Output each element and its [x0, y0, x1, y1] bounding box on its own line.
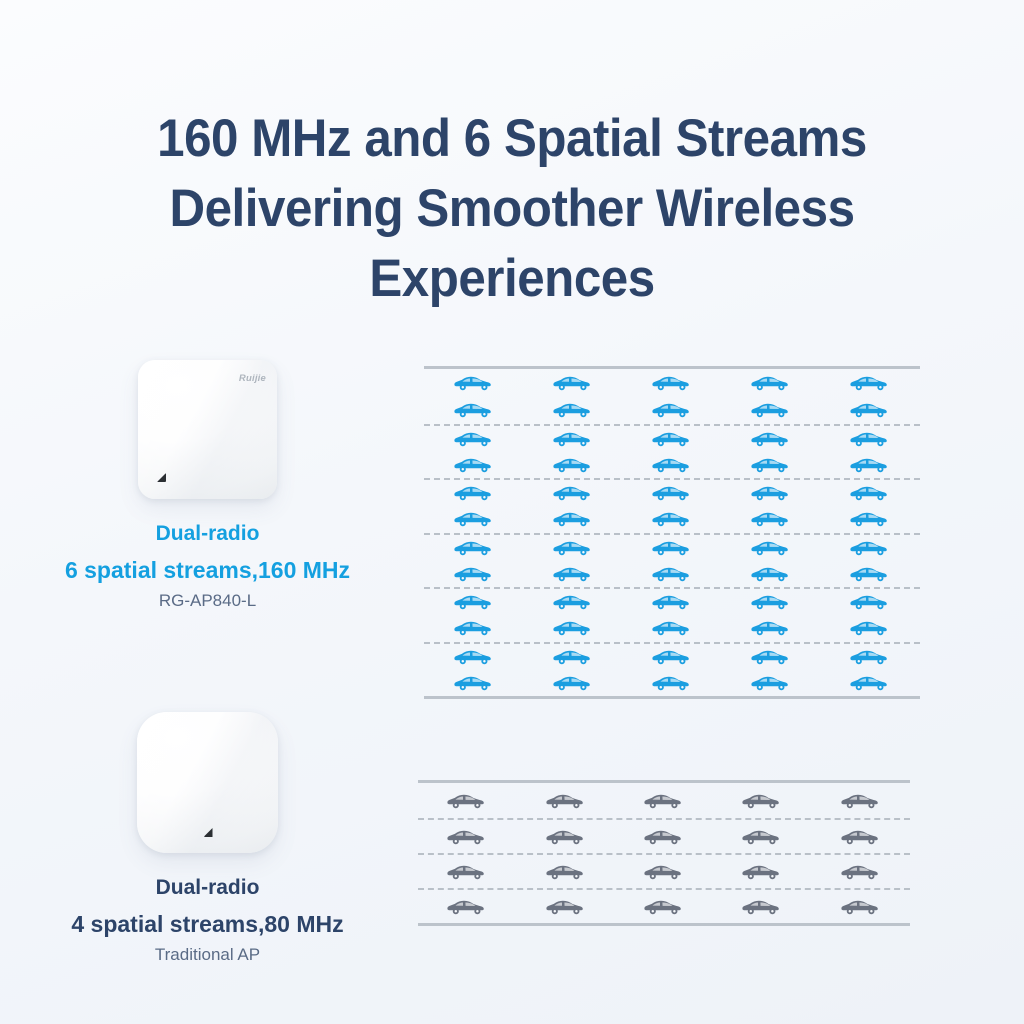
caption-model: Traditional AP	[0, 943, 415, 967]
car-slot	[523, 644, 622, 670]
car-slot	[722, 426, 821, 452]
car-icon	[546, 864, 586, 880]
car-icon	[546, 899, 586, 915]
car-icon	[454, 620, 494, 636]
lane-car-group	[418, 890, 910, 923]
car-icon	[454, 375, 494, 391]
car-icon	[553, 402, 593, 418]
car-icon	[553, 375, 593, 391]
car-icon	[553, 457, 593, 473]
car-rank	[424, 369, 920, 396]
car-slot	[424, 644, 523, 670]
car-slot	[424, 535, 523, 561]
car-icon	[652, 566, 692, 582]
car-slot	[812, 890, 910, 923]
car-slot	[424, 452, 523, 478]
car-rank	[424, 535, 920, 561]
car-slot	[615, 820, 713, 853]
car-icon	[454, 540, 494, 556]
car-icon	[850, 594, 890, 610]
car-icon	[553, 620, 593, 636]
car-slot	[821, 426, 920, 452]
car-slot	[821, 561, 920, 587]
caption-mode: Dual-radio	[0, 520, 415, 547]
car-slot	[821, 396, 920, 423]
car-icon	[553, 431, 593, 447]
road-lane	[418, 818, 910, 853]
car-slot	[523, 396, 622, 423]
lane-car-group	[418, 820, 910, 853]
caption-new-ap: Dual-radio 6 spatial streams,160 MHz RG-…	[0, 520, 415, 613]
car-icon	[644, 899, 684, 915]
car-icon	[553, 540, 593, 556]
car-rank	[424, 561, 920, 587]
car-slot	[516, 855, 614, 888]
lane-car-group	[424, 369, 920, 424]
car-slot	[523, 589, 622, 615]
car-icon	[553, 594, 593, 610]
car-slot	[418, 783, 516, 818]
car-slot	[812, 855, 910, 888]
car-slot	[821, 615, 920, 641]
car-icon	[751, 540, 791, 556]
car-rank	[418, 890, 910, 923]
device-gloss-overlay	[137, 712, 278, 853]
car-icon	[841, 864, 881, 880]
car-icon	[751, 594, 791, 610]
car-slot	[523, 535, 622, 561]
lane-car-group	[424, 589, 920, 642]
car-icon	[454, 675, 494, 691]
car-icon	[841, 829, 881, 845]
car-icon	[644, 829, 684, 845]
car-slot	[523, 561, 622, 587]
lane-car-group	[424, 535, 920, 588]
car-slot	[713, 855, 811, 888]
car-slot	[722, 480, 821, 506]
car-icon	[644, 864, 684, 880]
road-lane	[424, 478, 920, 533]
car-icon	[751, 375, 791, 391]
car-slot	[424, 615, 523, 641]
car-icon	[447, 864, 487, 880]
car-slot	[821, 369, 920, 396]
car-slot	[615, 783, 713, 818]
car-icon	[652, 540, 692, 556]
car-icon	[553, 485, 593, 501]
car-slot	[622, 670, 721, 696]
car-slot	[821, 480, 920, 506]
car-slot	[523, 615, 622, 641]
car-icon	[546, 793, 586, 809]
car-icon	[447, 899, 487, 915]
access-point-device-840: Ruijie	[138, 360, 277, 499]
lane-car-group	[418, 783, 910, 818]
car-icon	[553, 566, 593, 582]
car-icon	[751, 620, 791, 636]
caption-spec: 6 spatial streams,160 MHz	[0, 554, 415, 586]
car-slot	[615, 855, 713, 888]
car-icon	[454, 402, 494, 418]
car-icon	[751, 457, 791, 473]
car-slot	[622, 506, 721, 532]
car-slot	[722, 670, 821, 696]
car-icon	[454, 594, 494, 610]
car-icon	[751, 402, 791, 418]
car-icon	[742, 864, 782, 880]
title-line-2: Delivering Smoother Wireless	[36, 174, 988, 244]
car-slot	[523, 426, 622, 452]
car-slot	[424, 396, 523, 423]
car-icon	[742, 829, 782, 845]
car-icon	[447, 829, 487, 845]
car-slot	[622, 615, 721, 641]
road-diagram-traditional-ap	[418, 780, 910, 926]
car-slot	[418, 820, 516, 853]
car-icon	[850, 566, 890, 582]
title-line-3: Experiences	[36, 244, 988, 314]
car-slot	[821, 644, 920, 670]
car-slot	[821, 535, 920, 561]
car-icon	[652, 485, 692, 501]
car-slot	[418, 890, 516, 923]
car-slot	[722, 561, 821, 587]
car-slot	[812, 820, 910, 853]
car-slot	[424, 589, 523, 615]
car-slot	[622, 480, 721, 506]
status-led-icon	[157, 473, 166, 482]
car-icon	[751, 485, 791, 501]
car-slot	[418, 855, 516, 888]
car-icon	[652, 649, 692, 665]
car-icon	[850, 402, 890, 418]
car-slot	[622, 535, 721, 561]
car-rank	[424, 644, 920, 670]
car-slot	[722, 615, 821, 641]
car-slot	[424, 369, 523, 396]
lane-car-group	[424, 480, 920, 533]
lane-car-group	[418, 855, 910, 888]
road-lane	[424, 533, 920, 588]
caption-traditional-ap: Dual-radio 4 spatial streams,80 MHz Trad…	[0, 874, 415, 967]
car-slot	[622, 561, 721, 587]
car-icon	[751, 649, 791, 665]
car-slot	[722, 452, 821, 478]
car-icon	[841, 793, 881, 809]
car-slot	[713, 783, 811, 818]
car-icon	[454, 566, 494, 582]
car-slot	[821, 506, 920, 532]
car-rank	[424, 589, 920, 615]
car-slot	[424, 506, 523, 532]
car-icon	[652, 675, 692, 691]
road-lane	[418, 888, 910, 923]
car-rank	[424, 452, 920, 478]
car-slot	[523, 506, 622, 532]
car-slot	[821, 452, 920, 478]
car-icon	[546, 829, 586, 845]
car-slot	[523, 369, 622, 396]
car-icon	[652, 511, 692, 527]
car-icon	[454, 485, 494, 501]
car-icon	[742, 793, 782, 809]
car-slot	[722, 589, 821, 615]
car-icon	[850, 511, 890, 527]
road-lane	[418, 783, 910, 818]
car-icon	[850, 620, 890, 636]
car-slot	[424, 670, 523, 696]
car-icon	[553, 511, 593, 527]
car-rank	[418, 820, 910, 853]
car-icon	[454, 457, 494, 473]
car-icon	[454, 431, 494, 447]
road-lane	[424, 369, 920, 424]
car-icon	[751, 431, 791, 447]
car-icon	[850, 457, 890, 473]
car-icon	[652, 620, 692, 636]
lane-car-group	[424, 426, 920, 479]
car-slot	[722, 506, 821, 532]
product-new-ap: Ruijie Dual-radio 6 spatial streams,160 …	[0, 360, 415, 613]
access-point-device-traditional	[137, 712, 278, 853]
car-slot	[523, 452, 622, 478]
car-icon	[742, 899, 782, 915]
product-traditional-ap: Dual-radio 4 spatial streams,80 MHz Trad…	[0, 712, 415, 967]
caption-model: RG-AP840-L	[0, 589, 415, 613]
car-slot	[812, 783, 910, 818]
caption-mode: Dual-radio	[0, 874, 415, 901]
car-slot	[722, 644, 821, 670]
car-slot	[622, 452, 721, 478]
car-icon	[652, 402, 692, 418]
car-icon	[652, 594, 692, 610]
car-slot	[622, 369, 721, 396]
car-icon	[454, 511, 494, 527]
car-icon	[447, 793, 487, 809]
car-icon	[652, 457, 692, 473]
car-icon	[751, 566, 791, 582]
car-rank	[418, 783, 910, 818]
car-icon	[850, 485, 890, 501]
car-icon	[644, 793, 684, 809]
road-lane	[424, 642, 920, 697]
car-slot	[622, 589, 721, 615]
road-lane	[424, 587, 920, 642]
car-icon	[751, 675, 791, 691]
status-led-icon	[204, 828, 213, 837]
page-title: 160 MHz and 6 Spatial Streams Delivering…	[36, 104, 988, 314]
car-icon	[652, 375, 692, 391]
car-icon	[454, 649, 494, 665]
car-icon	[553, 649, 593, 665]
car-icon	[850, 649, 890, 665]
car-slot	[516, 783, 614, 818]
car-icon	[652, 431, 692, 447]
road-lane	[424, 424, 920, 479]
car-icon	[751, 511, 791, 527]
car-rank	[424, 480, 920, 506]
car-rank	[424, 670, 920, 696]
car-rank	[418, 855, 910, 888]
car-icon	[553, 675, 593, 691]
car-icon	[850, 540, 890, 556]
car-slot	[713, 890, 811, 923]
title-line-1: 160 MHz and 6 Spatial Streams	[36, 104, 988, 174]
car-slot	[424, 426, 523, 452]
car-slot	[516, 820, 614, 853]
car-rank	[424, 506, 920, 532]
car-slot	[722, 535, 821, 561]
car-icon	[850, 431, 890, 447]
car-slot	[615, 890, 713, 923]
car-rank	[424, 396, 920, 423]
car-slot	[622, 426, 721, 452]
car-slot	[424, 480, 523, 506]
road-lane	[418, 853, 910, 888]
car-icon	[850, 375, 890, 391]
car-slot	[622, 396, 721, 423]
car-slot	[523, 670, 622, 696]
car-slot	[516, 890, 614, 923]
caption-spec: 4 spatial streams,80 MHz	[0, 908, 415, 940]
car-icon	[841, 899, 881, 915]
car-slot	[722, 369, 821, 396]
car-rank	[424, 426, 920, 452]
lane-car-group	[424, 644, 920, 697]
car-slot	[722, 396, 821, 423]
car-icon	[850, 675, 890, 691]
car-slot	[821, 589, 920, 615]
car-rank	[424, 615, 920, 641]
car-slot	[622, 644, 721, 670]
car-slot	[523, 480, 622, 506]
car-slot	[424, 561, 523, 587]
ruijie-brand-logo: Ruijie	[239, 373, 266, 384]
car-slot	[713, 820, 811, 853]
road-diagram-new-ap	[424, 366, 920, 699]
car-slot	[821, 670, 920, 696]
